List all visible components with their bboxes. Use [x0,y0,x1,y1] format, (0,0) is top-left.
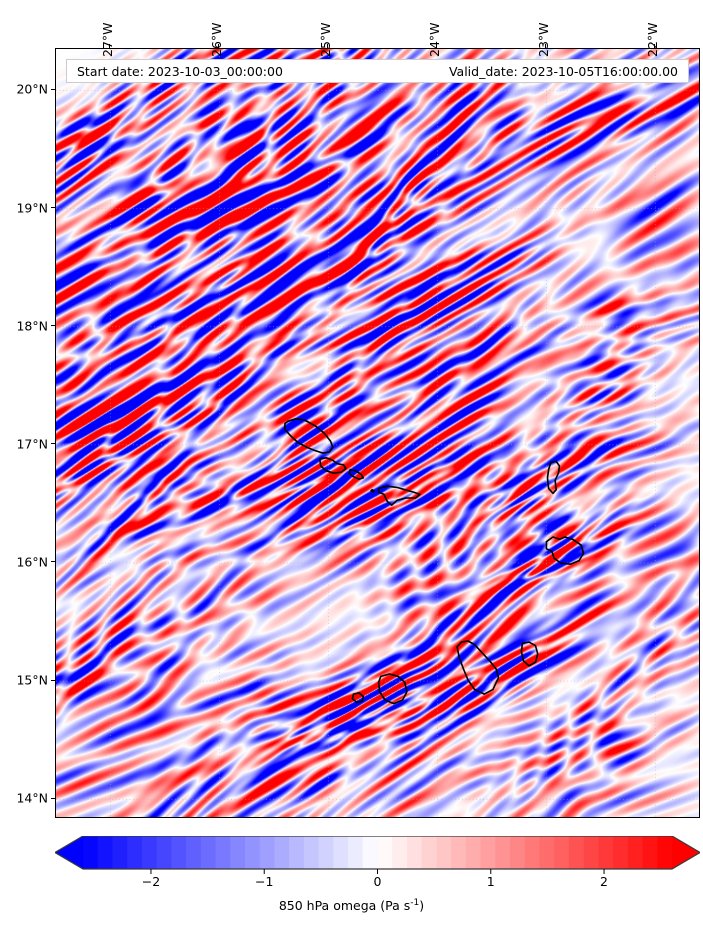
figure-root: Start date: 2023-10-03_00:00:00 Valid_da… [0,0,703,936]
colorbar-tick-label: 1 [487,874,495,889]
colorbar-label-tail: ) [419,898,424,913]
map-axes[interactable]: Start date: 2023-10-03_00:00:00 Valid_da… [55,48,700,818]
colorbar[interactable] [55,836,700,869]
colorbar-label-main: 850 hPa omega (Pa s [279,898,410,913]
y-tick-label: 20°N [0,82,48,97]
valid-date-label: Valid_date: 2023-10-05T16:00:00.00 [449,64,678,79]
colorbar-gradient [55,836,700,875]
coastline-overlay [56,49,699,817]
colorbar-tick-label: 0 [374,874,382,889]
date-annotation-box: Start date: 2023-10-03_00:00:00 Valid_da… [66,59,689,83]
start-date-label: Start date: 2023-10-03_00:00:00 [77,64,283,79]
y-tick-label: 15°N [0,673,48,688]
y-tick-label: 18°N [0,318,48,333]
y-tick-label: 16°N [0,554,48,569]
colorbar-tick-label: 2 [600,874,608,889]
colorbar-axis-label: 850 hPa omega (Pa s-1) [0,898,703,913]
y-tick-label: 17°N [0,436,48,451]
y-tick-label: 19°N [0,200,48,215]
y-tick-label: 14°N [0,791,48,806]
colorbar-tick-label: −1 [255,874,273,889]
colorbar-tick-label: −2 [142,874,160,889]
colorbar-label-exponent: -1 [410,898,419,908]
